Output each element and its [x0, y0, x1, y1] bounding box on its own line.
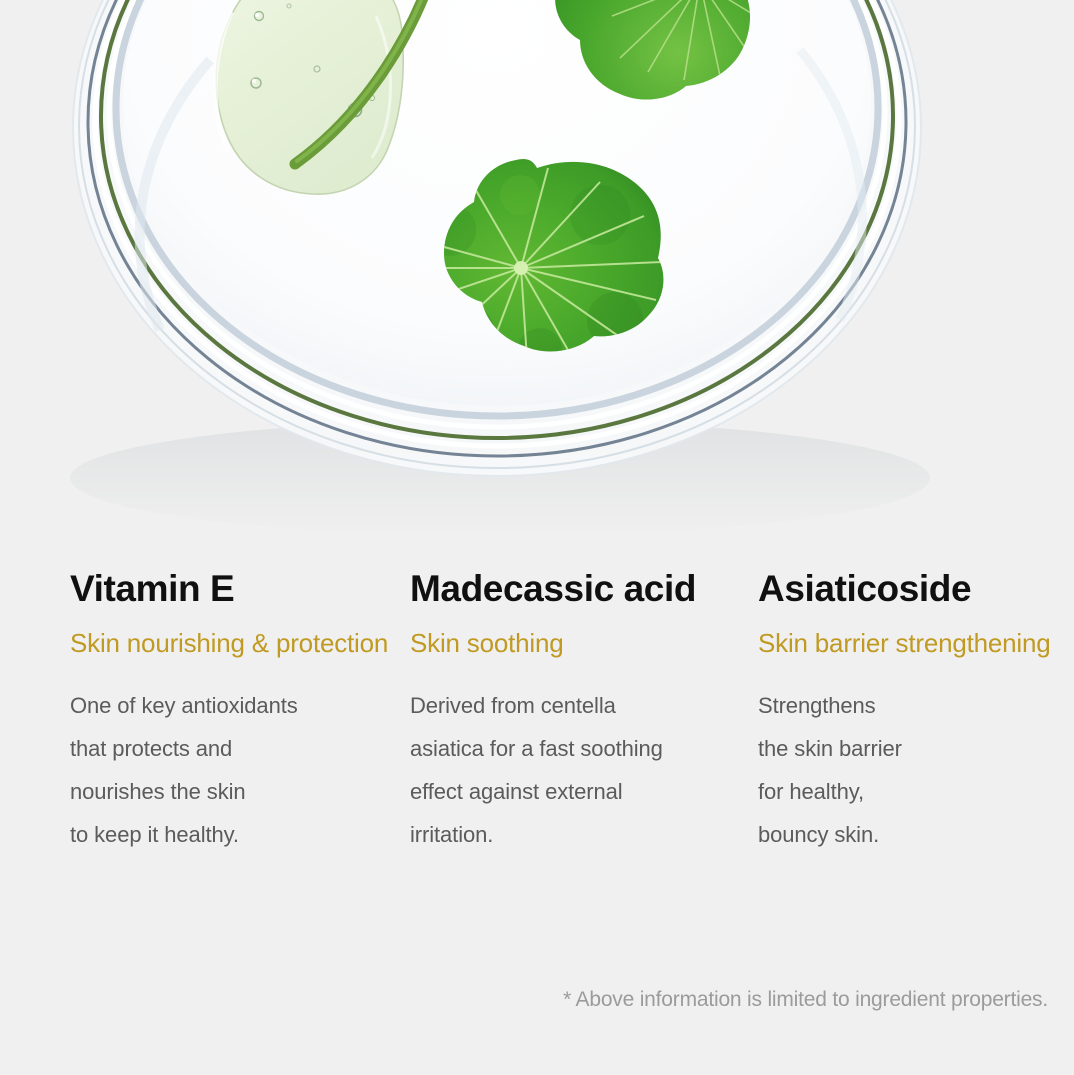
footnote-disclaimer: * Above information is limited to ingred… — [0, 988, 1048, 1012]
product-ingredient-infographic: Vitamin E Skin nourishing & protection O… — [0, 0, 1074, 1075]
petri-dish-illustration — [0, 0, 1074, 540]
ingredient-card-asiaticoside: Asiaticoside Skin barrier strengthening … — [758, 540, 1058, 857]
ingredient-title: Madecassic acid — [410, 540, 755, 611]
ingredient-columns: Vitamin E Skin nourishing & protection O… — [0, 540, 1074, 960]
ingredient-card-vitamin-e: Vitamin E Skin nourishing & protection O… — [70, 540, 400, 857]
ingredient-description: Strengthens the skin barrier for healthy… — [758, 659, 1058, 857]
gel-bubble-shine — [252, 79, 256, 83]
hero-image — [0, 0, 1074, 540]
ingredient-benefit: Skin nourishing & protection — [70, 611, 400, 660]
leaf-center-node — [514, 261, 528, 275]
ingredient-title: Vitamin E — [70, 540, 400, 611]
ingredient-description: Derived from centella asiatica for a fas… — [410, 659, 755, 857]
ingredient-description: One of key antioxidants that protects an… — [70, 659, 400, 857]
ingredient-benefit: Skin barrier strengthening — [758, 611, 1058, 660]
ingredient-title: Asiaticoside — [758, 540, 1058, 611]
ingredient-benefit: Skin soothing — [410, 611, 755, 660]
gel-bubble-shine — [255, 13, 259, 17]
ingredient-card-madecassic-acid: Madecassic acid Skin soothing Derived fr… — [410, 540, 755, 857]
